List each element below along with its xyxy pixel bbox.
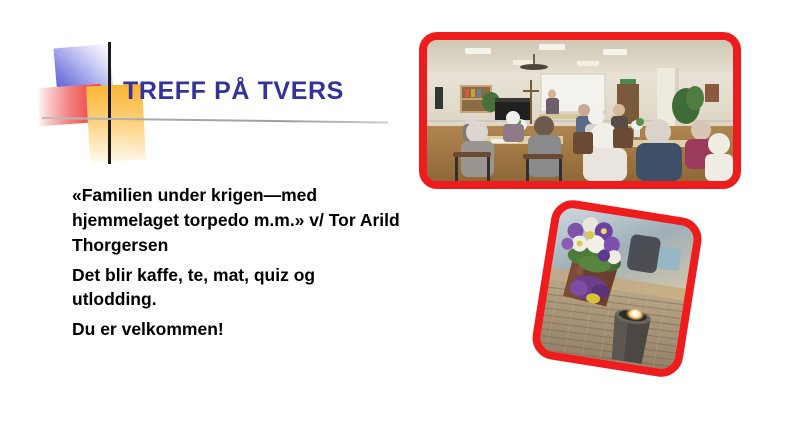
flower-candle-photo-image <box>538 206 695 370</box>
meeting-room-photo-image <box>427 40 733 181</box>
page-title: TREFF PÅ TVERS <box>123 77 344 106</box>
event-welcome-line: Du er velkommen! <box>72 317 402 342</box>
flower-candle-photo <box>529 197 704 380</box>
treff-pa-tvers-logo: TREFF PÅ TVERS <box>40 40 390 165</box>
event-description: «Familien under krigen—med hjemmelaget t… <box>72 183 402 342</box>
slide-canvas: TREFF PÅ TVERS «Familien under krigen—me… <box>0 0 800 448</box>
logo-vertical-bar-divider <box>108 42 111 164</box>
event-topic-line: «Familien under krigen—med hjemmelaget t… <box>72 183 402 258</box>
meeting-room-photo <box>419 32 741 189</box>
event-offerings-line: Det blir kaffe, te, mat, quiz og utloddi… <box>72 263 402 313</box>
